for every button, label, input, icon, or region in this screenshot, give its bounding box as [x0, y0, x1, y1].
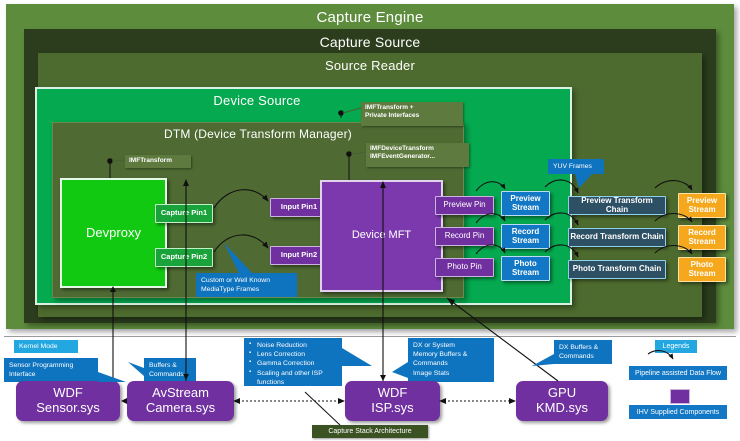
tag-imftransform-private: IMFTransform + Private Interfaces	[361, 102, 463, 126]
layer-source-reader-label: Source Reader	[38, 58, 702, 73]
node-photo-pin-label: Photo Pin	[447, 263, 482, 272]
node-capture-pin2-label: Capture Pin2	[161, 253, 207, 261]
driver-gpu-kmd-line2: KMD.sys	[536, 401, 588, 416]
legend-ihv-label: IHV Supplied Components	[637, 409, 720, 416]
callout-tail-buffers	[128, 362, 144, 376]
driver-avstream-camera[interactable]: AvStream Camera.sys	[127, 381, 234, 421]
kernel-divider	[4, 336, 736, 337]
driver-gpu-kmd[interactable]: GPU KMD.sys	[516, 381, 608, 421]
node-capture-pin1-label: Capture Pin1	[161, 209, 207, 217]
stream-blue-photo-line2: Stream	[512, 269, 539, 278]
callout-kernel-mode: Kernel Mode	[14, 340, 78, 353]
legend-ihv: IHV Supplied Components	[629, 405, 727, 419]
callout-buffers-commands-line1: Buffers &	[149, 361, 191, 370]
callout-dx-system-line1: DX or System	[413, 341, 489, 350]
callout-sensor-programming-line1: Sensor Programming	[9, 361, 93, 370]
driver-wdf-isp[interactable]: WDF ISP.sys	[345, 381, 440, 421]
callout-tail-dx-system	[392, 362, 408, 378]
transform-chain-record[interactable]: Record Transform Chain	[568, 228, 666, 247]
callout-dx-system: DX or System Memory Buffers & Commands I…	[408, 338, 494, 382]
callout-dx-system-line2: Memory Buffers &	[413, 350, 489, 359]
stream-orange-record-line2: Stream	[688, 238, 715, 247]
legend-title-label: Legends	[663, 343, 690, 350]
legend-dataflow-label: Pipeline assisted Data Flow	[635, 370, 721, 377]
callout-buffers-commands-line2: Commands	[149, 370, 191, 379]
legend-dataflow: Pipeline assisted Data Flow	[629, 366, 727, 380]
node-devproxy[interactable]: Devproxy	[60, 178, 167, 288]
tag-imftransform-private-line1: IMFTransform +	[365, 104, 459, 112]
callout-dx-buffers: DX Buffers & Commands	[554, 340, 612, 364]
node-record-pin-label: Record Pin	[445, 232, 485, 241]
callout-isp-item-2: Gamma Correction	[249, 359, 337, 368]
node-device-mft[interactable]: Device MFT	[320, 180, 443, 292]
node-input-pin1-label: Input Pin1	[281, 203, 317, 211]
stream-blue-preview[interactable]: Preview Stream	[501, 191, 550, 216]
diagram-caption-label: Capture Stack Architecture	[328, 428, 411, 435]
legend-title: Legends	[655, 340, 697, 353]
node-input-pin2-label: Input Pin2	[281, 251, 317, 259]
node-capture-pin1[interactable]: Capture Pin1	[155, 204, 213, 223]
driver-wdf-isp-line1: WDF	[378, 386, 408, 401]
transform-chain-preview-label: Preview Transform Chain	[569, 197, 665, 214]
stream-orange-preview[interactable]: Preview Stream	[678, 193, 726, 218]
tag-imfdevicetransform: IMFDeviceTransform IMFEventGenerator...	[366, 143, 469, 167]
node-preview-pin-label: Preview Pin	[443, 201, 485, 210]
stream-blue-record[interactable]: Record Stream	[501, 224, 550, 249]
stream-orange-photo[interactable]: Photo Stream	[678, 257, 726, 282]
transform-chain-preview[interactable]: Preview Transform Chain	[568, 196, 666, 215]
driver-gpu-kmd-line1: GPU	[548, 386, 576, 401]
layer-capture-source-label: Capture Source	[24, 34, 716, 50]
tag-imfdevicetransform-line1: IMFDeviceTransform	[370, 145, 465, 153]
node-preview-pin[interactable]: Preview Pin	[435, 196, 494, 215]
callout-dx-buffers-line1: DX Buffers &	[559, 343, 607, 352]
legend-ihv-swatch	[670, 389, 690, 404]
node-device-mft-label: Device MFT	[352, 230, 411, 242]
tag-imftransform-private-line2: Private Interfaces	[365, 112, 459, 120]
callout-tail-dx-buffers	[532, 354, 554, 366]
transform-chain-record-label: Record Transform Chain	[570, 233, 663, 242]
callout-mediatype-line2: MediaType Frames	[201, 285, 292, 294]
node-photo-pin[interactable]: Photo Pin	[435, 258, 494, 277]
callout-yuv-frames: YUV Frames	[548, 159, 604, 174]
transform-chain-photo-label: Photo Transform Chain	[573, 265, 661, 274]
driver-avstream-camera-line1: AvStream	[152, 386, 209, 401]
stream-orange-photo-line2: Stream	[688, 270, 715, 279]
callout-sensor-programming-line2: Interface	[9, 370, 93, 379]
stream-orange-preview-line2: Stream	[688, 206, 715, 215]
callout-dx-system-line4: Image Stats	[413, 369, 489, 378]
callout-dx-buffers-line2: Commands	[559, 352, 607, 361]
layer-dtm-label: DTM (Device Transform Manager)	[53, 127, 463, 141]
callout-kernel-mode-label: Kernel Mode	[19, 342, 58, 351]
caption-leader	[305, 392, 340, 425]
stream-orange-record[interactable]: Record Stream	[678, 225, 726, 250]
callout-isp-item-1: Lens Correction	[249, 350, 337, 359]
tag-imftransform-label: IMFTransform	[129, 157, 187, 165]
driver-wdf-isp-line2: ISP.sys	[371, 401, 413, 416]
callout-tail-isp	[342, 348, 372, 366]
callout-isp-functions: Noise Reduction Lens Correction Gamma Co…	[244, 338, 342, 386]
driver-avstream-camera-line2: Camera.sys	[146, 401, 215, 416]
stream-blue-photo[interactable]: Photo Stream	[501, 256, 550, 281]
callout-yuv-frames-label: YUV Frames	[553, 162, 592, 171]
stream-blue-preview-line2: Stream	[512, 204, 539, 213]
node-devproxy-label: Devproxy	[86, 226, 141, 240]
callout-isp-item-0: Noise Reduction	[249, 341, 337, 350]
node-capture-pin2[interactable]: Capture Pin2	[155, 248, 213, 267]
tag-imftransform: IMFTransform	[125, 155, 191, 168]
tag-imfdevicetransform-line2: IMFEventGenerator...	[370, 153, 465, 161]
layer-capture-engine-label: Capture Engine	[6, 9, 734, 26]
callout-mediatype-line1: Custom or Well Known	[201, 276, 292, 285]
diagram-caption: Capture Stack Architecture	[312, 425, 428, 438]
callout-dx-system-line3: Commands	[413, 359, 489, 368]
node-record-pin[interactable]: Record Pin	[435, 227, 494, 246]
driver-wdf-sensor-line2: Sensor.sys	[36, 401, 100, 416]
stream-blue-record-line2: Stream	[512, 237, 539, 246]
callout-buffers-commands: Buffers & Commands	[144, 358, 196, 382]
capture-stack-architecture-diagram: Capture Engine Capture Source Source Rea…	[0, 0, 740, 441]
driver-wdf-sensor[interactable]: WDF Sensor.sys	[16, 381, 120, 421]
driver-wdf-sensor-line1: WDF	[53, 386, 83, 401]
transform-chain-photo[interactable]: Photo Transform Chain	[568, 260, 666, 279]
callout-sensor-programming: Sensor Programming Interface	[4, 358, 98, 382]
callout-isp-item-3: Scaling and other ISP functions	[249, 369, 337, 387]
callout-mediatype-frames: Custom or Well Known MediaType Frames	[196, 273, 297, 297]
